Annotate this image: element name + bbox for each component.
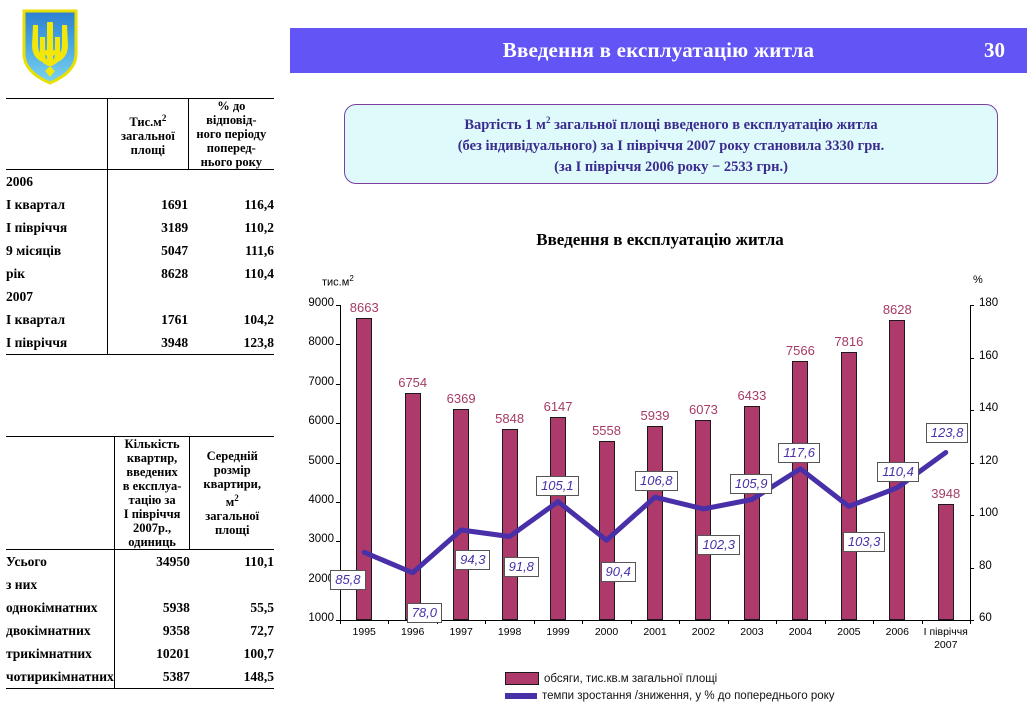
legend-line-swatch-icon bbox=[505, 693, 537, 699]
header-cell-area: Тис.м2 загальної площі bbox=[108, 99, 189, 170]
row-value-area: 1761 bbox=[108, 308, 189, 331]
row-value-percent: 123,8 bbox=[188, 331, 274, 355]
header-count-line4: в експлуа- bbox=[123, 479, 182, 493]
header-count-line7: 2007р., bbox=[133, 521, 171, 535]
legend-bar-swatch-icon bbox=[505, 672, 539, 685]
row-value-area bbox=[108, 285, 189, 308]
callout-line-1: Вартість 1 м2 загальної площі введеного … bbox=[464, 110, 877, 136]
header-count-line6: I півріччя bbox=[124, 507, 181, 521]
row-value-percent bbox=[188, 285, 274, 308]
row-label: I квартал bbox=[6, 193, 108, 216]
row-value-count: 5387 bbox=[114, 665, 190, 689]
header-count-line2: квартир, bbox=[127, 451, 177, 465]
header-area-line1: Тис.м bbox=[129, 115, 161, 129]
row-value-area: 5047 bbox=[108, 239, 189, 262]
line-value-label: 105,1 bbox=[536, 476, 579, 496]
header-area-line2: загальної bbox=[121, 129, 175, 143]
row-label: I півріччя bbox=[6, 331, 108, 355]
row-label: трикімнатних bbox=[6, 642, 114, 665]
line-value-label: 110,4 bbox=[877, 462, 919, 482]
table-row: Усього 34950 110,1 bbox=[6, 550, 274, 574]
row-label: 2007 bbox=[6, 285, 108, 308]
row-label: двокімнатних bbox=[6, 619, 114, 642]
table-rooms: Кількість квартир, введених в експлуа- т… bbox=[6, 436, 274, 689]
table-periods: Тис.м2 загальної площі % до відповід- но… bbox=[6, 98, 274, 355]
legend-line-label: темпи зростання /зниження, у % до попере… bbox=[542, 690, 835, 702]
row-value-area: 8628 bbox=[108, 262, 189, 285]
header-percent-line2: відповід- bbox=[206, 113, 256, 127]
callout-line-2: (без індивідуального) за I півріччя 2007… bbox=[458, 136, 885, 157]
header-cell-avgsize: Середній розмір квартири, м2 загальної п… bbox=[190, 437, 274, 550]
table-row: рік 8628 110,4 bbox=[6, 262, 274, 285]
table-row: 2007 bbox=[6, 285, 274, 308]
legend-item-line: темпи зростання /зниження, у % до попере… bbox=[505, 690, 1005, 702]
row-value-count: 9358 bbox=[114, 619, 190, 642]
line-value-label: 78,0 bbox=[407, 603, 442, 623]
row-value-area: 3948 bbox=[108, 331, 189, 355]
row-value-count bbox=[114, 573, 190, 596]
line-value-label: 103,3 bbox=[843, 532, 886, 552]
header-count-line5: тацію за bbox=[128, 493, 175, 507]
table-row: 2006 bbox=[6, 170, 274, 194]
line-value-label: 102,3 bbox=[697, 535, 740, 555]
header-avgsize-line4: м bbox=[226, 495, 235, 509]
header-area-line3: площі bbox=[131, 143, 166, 157]
table-row: з них bbox=[6, 573, 274, 596]
row-value-avgsize: 72,7 bbox=[190, 619, 274, 642]
line-value-label: 85,8 bbox=[330, 570, 365, 590]
row-label: чотирикімнатних bbox=[6, 665, 114, 689]
header-avgsize-line6: площі bbox=[215, 523, 250, 537]
row-label: з них bbox=[6, 573, 114, 596]
row-label: рік bbox=[6, 262, 108, 285]
slide-number: 30 bbox=[984, 38, 1005, 63]
table-row: I квартал 1691 116,4 bbox=[6, 193, 274, 216]
header-count-line8: одиниць bbox=[128, 535, 176, 549]
table-row: чотирикімнатних 5387 148,5 bbox=[6, 665, 274, 689]
callout-line1-a: Вартість 1 м bbox=[464, 117, 546, 133]
legend-item-bars: обсяги, тис.кв.м загальної площі bbox=[505, 672, 1005, 685]
row-value-avgsize: 100,7 bbox=[190, 642, 274, 665]
row-value-area: 3189 bbox=[108, 216, 189, 239]
line-value-label: 94,3 bbox=[455, 550, 490, 570]
ukraine-coat-of-arms bbox=[20, 8, 80, 86]
header-cell-percent: % до відповід- ного періоду поперед- ньо… bbox=[188, 99, 274, 170]
row-label: однокімнатних bbox=[6, 596, 114, 619]
header-cell-blank bbox=[6, 437, 114, 550]
header-percent-line3: ного періоду bbox=[196, 127, 266, 141]
row-value-count: 34950 bbox=[114, 550, 190, 574]
page-title: Введення в експлуатацію житла bbox=[290, 38, 1027, 63]
callout-line1-b: загальної площі введеного в експлуатацію… bbox=[550, 117, 877, 133]
header-cell-count: Кількість квартир, введених в експлуа- т… bbox=[114, 437, 190, 550]
table-row: 9 місяців 5047 111,6 bbox=[6, 239, 274, 262]
header-percent-line1: % до bbox=[217, 99, 245, 113]
trend-line bbox=[300, 262, 1027, 630]
table-header-row: Тис.м2 загальної площі % до відповід- но… bbox=[6, 99, 274, 170]
row-value-area: 1691 bbox=[108, 193, 189, 216]
table-row: двокімнатних 9358 72,7 bbox=[6, 619, 274, 642]
row-value-count: 10201 bbox=[114, 642, 190, 665]
header-avgsize-line1: Середній bbox=[207, 449, 258, 463]
header-avgsize-line3: квартири, bbox=[203, 477, 261, 491]
row-value-percent: 104,2 bbox=[188, 308, 274, 331]
table-row: однокімнатних 5938 55,5 bbox=[6, 596, 274, 619]
row-value-avgsize: 148,5 bbox=[190, 665, 274, 689]
row-value-avgsize bbox=[190, 573, 274, 596]
header-avgsize-line5: загальної bbox=[205, 509, 259, 523]
table-row: I півріччя 3189 110,2 bbox=[6, 216, 274, 239]
table-row: I півріччя 3948 123,8 bbox=[6, 331, 274, 355]
row-label: 2006 bbox=[6, 170, 108, 194]
header-count-line1: Кількість bbox=[125, 437, 180, 451]
callout-line-3: (за I півріччя 2006 року − 2533 грн.) bbox=[554, 157, 788, 178]
header-percent-line4: поперед- bbox=[207, 141, 256, 155]
row-label: I півріччя bbox=[6, 216, 108, 239]
row-value-avgsize: 55,5 bbox=[190, 596, 274, 619]
line-value-label: 123,8 bbox=[926, 423, 969, 443]
legend-bar-label: обсяги, тис.кв.м загальної площі bbox=[544, 673, 717, 685]
combo-chart: тис.м2%900080007000600050004000300020001… bbox=[300, 262, 1027, 672]
row-value-count: 5938 bbox=[114, 596, 190, 619]
row-value-area bbox=[108, 170, 189, 194]
line-value-label: 117,6 bbox=[778, 443, 820, 463]
row-value-percent: 110,2 bbox=[188, 216, 274, 239]
row-label: I квартал bbox=[6, 308, 108, 331]
table-row: трикімнатних 10201 100,7 bbox=[6, 642, 274, 665]
row-value-percent: 116,4 bbox=[188, 193, 274, 216]
slide-header-bar: Введення в експлуатацію житла 30 bbox=[290, 28, 1027, 73]
chart-title: Введення в експлуатацію житла bbox=[340, 230, 980, 250]
row-value-percent: 111,6 bbox=[188, 239, 274, 262]
line-value-label: 105,9 bbox=[730, 474, 773, 494]
cost-callout-box: Вартість 1 м2 загальної площі введеного … bbox=[344, 104, 998, 184]
line-value-label: 90,4 bbox=[601, 562, 636, 582]
header-cell-blank bbox=[6, 99, 108, 170]
row-label: Усього bbox=[6, 550, 114, 574]
chart-legend: обсяги, тис.кв.м загальної площі темпи з… bbox=[505, 672, 1005, 707]
header-avgsize-line2: розмір bbox=[214, 463, 251, 477]
table-header-row: Кількість квартир, введених в експлуа- т… bbox=[6, 437, 274, 550]
row-label: 9 місяців bbox=[6, 239, 108, 262]
header-count-line3: введених bbox=[126, 465, 177, 479]
header-avgsize-sup: 2 bbox=[234, 493, 239, 503]
line-value-label: 106,8 bbox=[635, 471, 678, 491]
table-row: I квартал 1761 104,2 bbox=[6, 308, 274, 331]
row-value-percent: 110,4 bbox=[188, 262, 274, 285]
line-value-label: 91,8 bbox=[504, 557, 539, 577]
header-percent-line5: нього року bbox=[201, 155, 262, 169]
row-value-avgsize: 110,1 bbox=[190, 550, 274, 574]
row-value-percent bbox=[188, 170, 274, 194]
header-area-sup: 2 bbox=[162, 113, 167, 123]
